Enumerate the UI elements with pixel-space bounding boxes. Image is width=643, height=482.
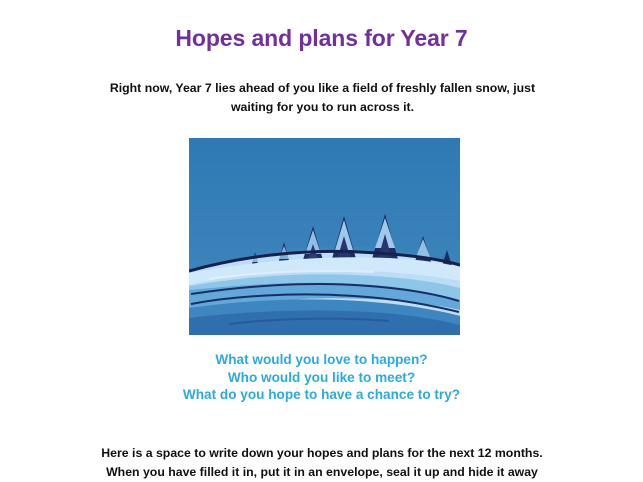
question-3: What do you hope to have a chance to try… [0, 386, 643, 404]
outro-paragraph: Here is a space to write down your hopes… [72, 444, 572, 482]
worksheet-page: Hopes and plans for Year 7 Right now, Ye… [0, 0, 643, 482]
winter-scene-image [189, 138, 460, 335]
question-1: What would you love to happen? [0, 351, 643, 369]
outro-line-2: When you have filled it in, put it in an… [72, 463, 572, 482]
outro-line-1: Here is a space to write down your hopes… [72, 444, 572, 463]
intro-paragraph: Right now, Year 7 lies ahead of you like… [90, 79, 555, 117]
winter-scene-svg [189, 138, 460, 335]
page-title: Hopes and plans for Year 7 [0, 24, 643, 52]
question-2: Who would you like to meet? [0, 369, 643, 387]
question-list: What would you love to happen? Who would… [0, 351, 643, 404]
